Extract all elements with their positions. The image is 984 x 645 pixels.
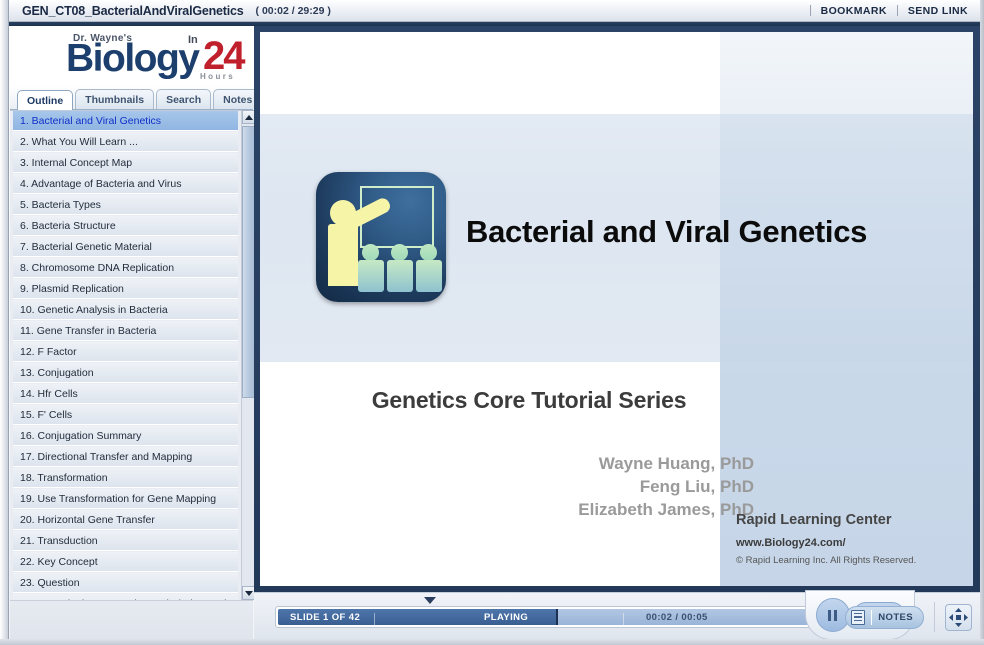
progress-track[interactable]: SLIDE 1 OF 42 PLAYING 00:02 / 00:05 — [278, 609, 817, 625]
window-left-edge — [0, 0, 9, 645]
controls-divider — [934, 602, 935, 632]
logo-number-text: 24 — [203, 36, 244, 76]
header-separator — [810, 5, 811, 16]
outline-list: 1. Bacterial and Viral Genetics2. What Y… — [10, 111, 238, 600]
slide-subtitle: Genetics Core Tutorial Series — [304, 387, 754, 414]
author-name: Wayne Huang, PhD — [304, 452, 754, 475]
course-player-window: GEN_CT08_BacterialAndViralGenetics ( 00:… — [0, 0, 984, 645]
outline-item[interactable]: 10. Genetic Analysis in Bacteria — [13, 300, 238, 320]
logo-hours-text: Hours — [200, 72, 235, 81]
document-icon — [851, 610, 865, 625]
brand-logo: Dr. Wayne's Biology In 24 Hours — [10, 26, 253, 86]
outline-item[interactable]: 14. Hfr Cells — [13, 384, 238, 404]
fullscreen-icon — [949, 608, 968, 627]
notes-button[interactable]: NOTES — [845, 606, 924, 629]
tab-thumbnails[interactable]: Thumbnails — [75, 89, 154, 109]
teacher-body-shape — [328, 224, 358, 286]
window-bottom-edge — [0, 639, 984, 645]
logo-in-text: In — [188, 34, 198, 46]
notes-divider — [871, 610, 872, 625]
outline-item[interactable]: 13. Conjugation — [13, 363, 238, 383]
outline-item[interactable]: 20. Horizontal Gene Transfer — [13, 510, 238, 530]
outline-item[interactable]: 15. F' Cells — [13, 405, 238, 425]
outline-scrollbar[interactable] — [241, 110, 255, 600]
outline-item[interactable]: 22. Key Concept — [13, 552, 238, 572]
chevron-down-icon — [245, 591, 253, 596]
header-separator — [897, 5, 898, 16]
sidebar-footer-panel — [10, 600, 253, 644]
header-elapsed-time: ( 00:02 / 29:29 ) — [256, 5, 331, 17]
slide-right-column — [720, 32, 973, 586]
sidebar: Dr. Wayne's Biology In 24 Hours OutlineT… — [10, 26, 253, 618]
outline-panel: 1. Bacterial and Viral Genetics2. What Y… — [10, 110, 253, 600]
student-head-shape — [391, 244, 408, 261]
outline-item[interactable]: 1. Bacterial and Viral Genetics — [13, 111, 238, 131]
author-name: Feng Liu, PhD — [304, 475, 754, 498]
progress-tick — [374, 613, 375, 625]
outline-item[interactable]: 8. Chromosome DNA Replication — [13, 258, 238, 278]
slide-authors: Wayne Huang, PhDFeng Liu, PhDElizabeth J… — [304, 452, 754, 521]
playhead-caret-icon — [424, 597, 436, 604]
student-head-shape — [362, 244, 379, 261]
outline-item[interactable]: 4. Advantage of Bacteria and Virus — [13, 174, 238, 194]
outline-item[interactable]: 18. Transformation — [13, 468, 238, 488]
slide-footer: Rapid Learning Center www.Biology24.com/… — [736, 512, 973, 566]
outline-item[interactable]: 5. Bacteria Types — [13, 195, 238, 215]
outline-item[interactable]: 17. Directional Transfer and Mapping — [13, 447, 238, 467]
slide-counter-label: SLIDE 1 OF 42 — [290, 609, 360, 625]
outline-item[interactable]: 23. Question — [13, 573, 238, 593]
footer-copyright: © Rapid Learning Inc. All Rights Reserve… — [736, 555, 973, 566]
playback-status-label: PLAYING — [484, 609, 528, 625]
chevron-up-icon — [245, 115, 253, 120]
sidebar-tabs: OutlineThumbnailsSearchNotes — [10, 86, 253, 110]
slide-stage: Bacterial and Viral Genetics Genetics Co… — [254, 26, 980, 592]
student-head-shape — [420, 244, 437, 261]
logo-main-text: Biology — [66, 39, 199, 78]
student-body-shape — [416, 260, 442, 292]
progress-tick — [623, 613, 624, 625]
slide-time-label: 00:02 / 00:05 — [646, 609, 708, 625]
tab-outline[interactable]: Outline — [17, 90, 73, 110]
header-bar: GEN_CT08_BacterialAndViralGenetics ( 00:… — [9, 0, 980, 22]
outline-item[interactable]: 11. Gene Transfer in Bacteria — [13, 321, 238, 341]
pause-icon — [828, 610, 837, 621]
page-title: GEN_CT08_BacterialAndViralGenetics — [22, 4, 244, 18]
header-actions: BOOKMARK SEND LINK — [800, 5, 968, 17]
send-link-button[interactable]: SEND LINK — [908, 5, 968, 17]
player-control-bar: SLIDE 1 OF 42 PLAYING 00:02 / 00:05 — [254, 592, 980, 639]
slide-canvas: Bacterial and Viral Genetics Genetics Co… — [260, 32, 973, 586]
logo-artwork: Dr. Wayne's Biology In 24 Hours — [40, 30, 253, 86]
outline-item[interactable]: 19. Use Transformation for Gene Mapping — [13, 489, 238, 509]
outline-item[interactable]: 16. Conjugation Summary — [13, 426, 238, 446]
student-body-shape — [358, 260, 384, 292]
bookmark-button[interactable]: BOOKMARK — [821, 5, 887, 17]
window-right-edge — [980, 0, 984, 645]
outline-item[interactable]: 3. Internal Concept Map — [13, 153, 238, 173]
pause-bar-shape — [834, 610, 837, 621]
teacher-classroom-icon — [316, 172, 446, 302]
outline-item[interactable]: 12. F Factor — [13, 342, 238, 362]
progress-bar[interactable]: SLIDE 1 OF 42 PLAYING 00:02 / 00:05 — [275, 606, 820, 628]
fullscreen-button[interactable] — [945, 604, 972, 631]
outline-item[interactable]: 7. Bacterial Genetic Material — [13, 237, 238, 257]
tab-search[interactable]: Search — [156, 89, 211, 109]
pause-bar-shape — [828, 610, 831, 621]
footer-url[interactable]: www.Biology24.com/ — [736, 537, 973, 549]
right-controls: NOTES — [845, 597, 972, 637]
footer-organization: Rapid Learning Center — [736, 512, 973, 528]
outline-item[interactable]: 6. Bacteria Structure — [13, 216, 238, 236]
slide-title: Bacterial and Viral Genetics — [466, 214, 956, 250]
outline-item[interactable]: 2. What You Will Learn ... — [13, 132, 238, 152]
outline-item[interactable]: 9. Plasmid Replication — [13, 279, 238, 299]
outline-item[interactable]: 21. Transduction — [13, 531, 238, 551]
author-name: Elizabeth James, PhD — [304, 498, 754, 521]
student-body-shape — [387, 260, 413, 292]
progress-section: SLIDE 1 OF 42 PLAYING 00:02 / 00:05 — [264, 597, 839, 637]
notes-button-label: NOTES — [878, 612, 913, 623]
